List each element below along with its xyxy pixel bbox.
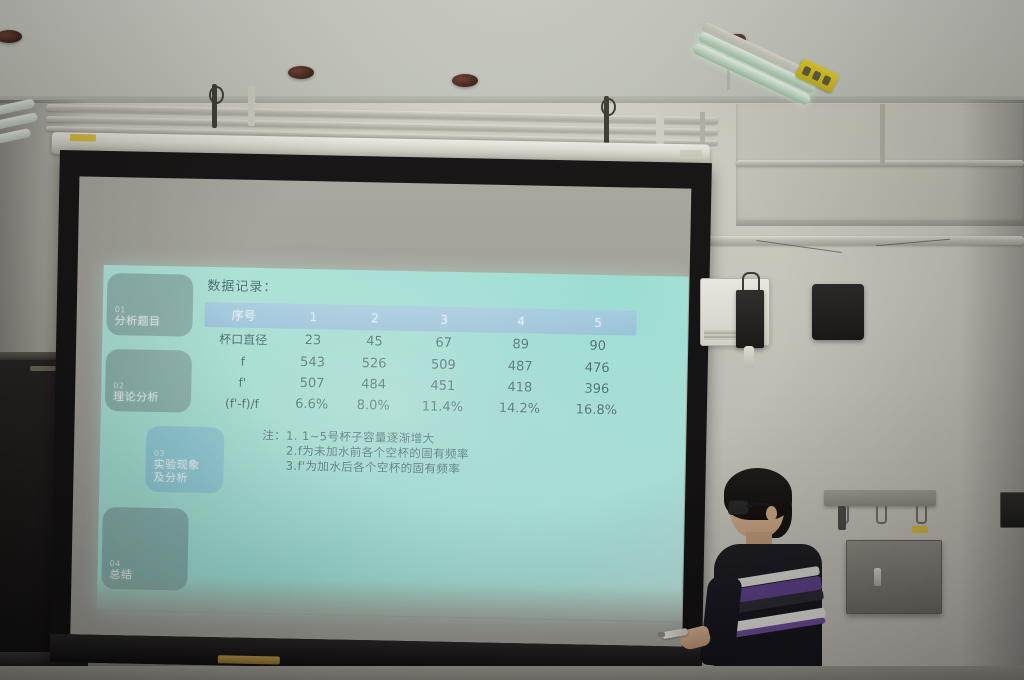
table-row-label: f' <box>203 371 281 394</box>
yellow-warning-tag <box>912 526 928 533</box>
ear <box>766 506 777 521</box>
wall-mounted-black-box <box>736 290 764 348</box>
table-cell: 89 <box>482 333 559 358</box>
recessed-ceiling-light-icon <box>288 66 314 79</box>
slide-section-nav: 01 分析题目 02 理论分析 03 实验现象 及分析 04 总结 <box>101 273 200 607</box>
ceiling-support <box>656 116 664 144</box>
glasses-bridge <box>746 505 753 507</box>
glasses-icon <box>728 500 749 515</box>
roller-end-cap <box>680 150 702 157</box>
sidebar-item-02-label: 理论分析 <box>113 390 183 404</box>
mount-bolt <box>811 70 821 81</box>
recessed-ceiling-light-icon <box>452 74 478 87</box>
lamp-tube-icon <box>0 128 31 144</box>
table-col-header-5: 5 <box>559 309 636 336</box>
sidebar-item-01-label: 分析题目 <box>114 314 184 328</box>
table-cell: 526 <box>343 353 405 375</box>
wall-speaker <box>812 284 864 340</box>
table-col-header-1: 1 <box>282 304 344 330</box>
floor <box>0 666 1024 680</box>
sidebar-item-02[interactable]: 02 理论分析 <box>105 349 192 413</box>
cabinet-latch-icon[interactable] <box>874 568 881 586</box>
coat-hook-icon[interactable] <box>916 506 927 524</box>
electrical-cabinet[interactable] <box>846 540 942 614</box>
table-col-header-4: 4 <box>482 308 559 335</box>
wall-conduit <box>880 104 885 164</box>
table-cell: 418 <box>481 377 558 400</box>
table-cell: 487 <box>482 356 559 379</box>
table-col-header-2: 2 <box>344 305 406 331</box>
table-cell: 396 <box>558 378 635 401</box>
roller-label <box>70 134 96 141</box>
table-cell: 23 <box>282 329 344 353</box>
table-cell: 45 <box>344 330 406 354</box>
table-cell: 67 <box>405 331 482 356</box>
projection-screen[interactable]: 01 分析题目 02 理论分析 03 实验现象 及分析 04 总结 <box>50 150 712 675</box>
table-cell: 8.0% <box>342 395 404 417</box>
coat-hook-icon[interactable] <box>876 506 887 524</box>
mounting-hook-icon <box>742 272 760 292</box>
ceiling-hanger-loop <box>601 98 616 116</box>
table-cell: 6.6% <box>281 393 343 415</box>
table-cell: 16.8% <box>558 399 635 422</box>
classroom-photo: 01 分析题目 02 理论分析 03 实验现象 及分析 04 总结 <box>0 0 1024 680</box>
lamp-tube-icon <box>0 112 38 130</box>
mount-bolt <box>821 75 831 86</box>
table-col-header-0: 序号 <box>204 302 282 329</box>
wall-corner-shadow <box>960 100 1024 680</box>
wall-control-panel[interactable] <box>1000 492 1024 528</box>
table-cell: 507 <box>281 372 343 394</box>
table-cell: 476 <box>559 357 636 380</box>
ceiling <box>0 0 1024 100</box>
table-col-header-3: 3 <box>406 306 483 333</box>
table-cell: 14.2% <box>481 398 558 421</box>
mount-bolt <box>801 66 811 77</box>
presenter-person <box>690 470 850 680</box>
slide-title: 数据记录： <box>207 275 683 304</box>
screen-surface: 01 分析题目 02 理论分析 03 实验现象 及分析 04 总结 <box>70 176 691 646</box>
sidebar-item-01[interactable]: 01 分析题目 <box>106 273 193 337</box>
table-row-label: 杯口直径 <box>204 327 282 352</box>
ceiling-hanger-loop <box>209 86 224 104</box>
table-row-label: f <box>204 350 282 373</box>
wall-pipe-horizontal <box>700 236 1024 245</box>
table-cell: 90 <box>559 334 636 359</box>
data-table: 序号 1 2 3 4 5 杯口直径 23 <box>203 302 637 422</box>
ceiling-support <box>248 86 255 126</box>
table-cell: 543 <box>282 351 344 373</box>
presentation-slide: 01 分析题目 02 理论分析 03 实验现象 及分析 04 总结 <box>97 265 689 622</box>
table-cell: 509 <box>405 354 482 377</box>
ceiling-edge <box>0 96 1024 103</box>
table-cell: 484 <box>343 374 405 396</box>
blackboard-clip <box>30 366 56 371</box>
slide-notes: 注：1. 1~5号杯子容量逐渐增大 2.f为未加水前各个空杯的固有频率 3.f'… <box>262 428 681 481</box>
slide-content: 数据记录： 序号 1 2 3 4 5 <box>197 271 684 617</box>
table-cell: 451 <box>404 375 481 398</box>
presenter-remote-tip <box>658 632 665 637</box>
drain-pipe <box>744 346 754 368</box>
table-cell: 11.4% <box>404 396 481 419</box>
table-row-label: (f'-f)/f <box>203 392 281 415</box>
screen-pull-handle[interactable] <box>218 655 280 664</box>
